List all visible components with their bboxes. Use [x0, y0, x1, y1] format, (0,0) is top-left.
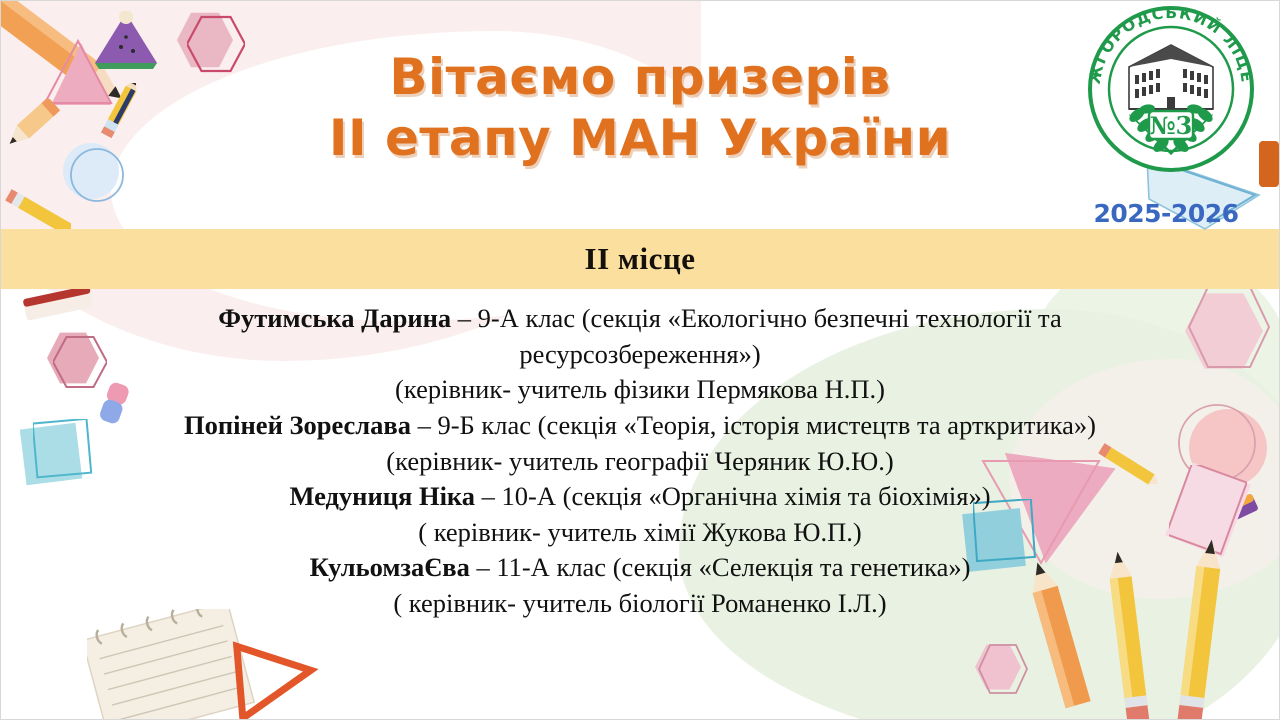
winner-mentor: ( керівник- учитель хімії Жукова Ю.П.) [21, 515, 1259, 551]
winner-name: Футимська Дарина [218, 303, 451, 333]
winner-mentor: ( керівник- учитель біології Романенко І… [21, 586, 1259, 622]
winner-entry-line: Футимська Дарина – 9-А клас (секція «Еко… [21, 301, 1259, 337]
winner-details: – 9-Б клас (секція «Теорія, історія мист… [411, 410, 1096, 440]
winner-entry-line: Медуниця Ніка – 10-А (секція «Органічна … [21, 479, 1259, 515]
title-line-1: Вітаємо призерів [389, 48, 890, 106]
winners-list: Футимська Дарина – 9-А клас (секція «Еко… [21, 301, 1259, 622]
logo-year-label: 2025-2026 [1075, 199, 1257, 228]
logo-number-badge: №3 [1149, 111, 1193, 140]
winner-name: Медуниця Ніка [289, 481, 475, 511]
winner-entry-line: Попіней Зореслава – 9-Б клас (секція «Те… [21, 408, 1259, 444]
school-logo: УЖГОРОДСЬКИЙ ЛІЦЕЙ [1075, 3, 1263, 238]
winner-details: – 11-А клас (секція «Селекція та генетик… [470, 552, 971, 582]
winner-mentor: (керівник- учитель фізики Пермякова Н.П.… [21, 372, 1259, 408]
logo-badge-text: №3 [1150, 111, 1193, 140]
winner-name: Попіней Зореслава [184, 410, 411, 440]
place-banner: II місце [1, 229, 1279, 289]
winner-entry-line: КульомзаЄва – 11-А клас (секція «Селекці… [21, 550, 1259, 586]
winner-details: – 9-А клас (секція «Екологічно безпечні … [451, 303, 1062, 333]
place-banner-label: II місце [585, 241, 696, 277]
winner-mentor: (керівник- учитель географії Черяник Ю.Ю… [21, 444, 1259, 480]
winner-details: – 10-А (секція «Органічна хімія та біохі… [475, 481, 991, 511]
logo-emblem: УЖГОРОДСЬКИЙ ЛІЦЕЙ [1087, 5, 1255, 173]
triangle-ruler-orange [227, 629, 327, 719]
winner-name: КульомзаЄва [310, 552, 470, 582]
winner-details-continued: ресурсозбереження») [21, 337, 1259, 373]
slide: Вітаємо призерів II етапу МАН України УЖ… [0, 0, 1280, 720]
